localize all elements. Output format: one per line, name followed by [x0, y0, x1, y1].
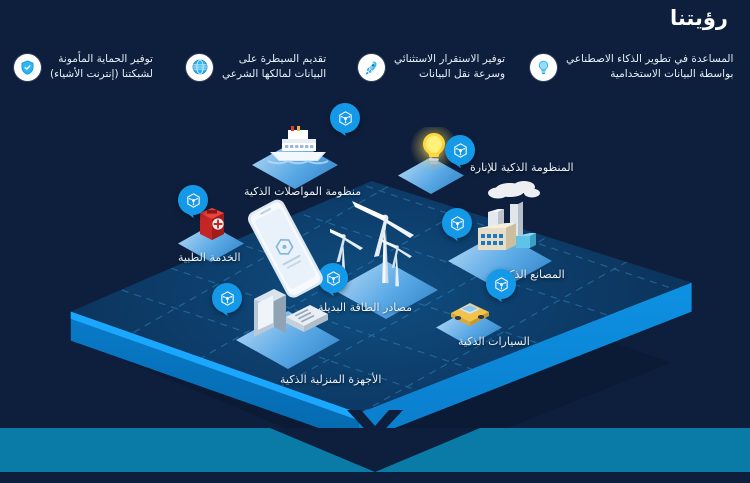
- feature-callout-text: المساعدة في تطوير الذكاء الاصطناعيبواسطة…: [566, 52, 733, 82]
- iot-hexagon-node-icon[interactable]: [178, 185, 208, 215]
- shield-check-icon: [14, 54, 41, 81]
- isometric-scene: المنظومة الذكية للإنارة: [0, 95, 750, 435]
- page-title: رؤيتنا: [670, 6, 728, 30]
- chevron-down-logo-icon: [343, 410, 407, 444]
- rocket-icon: [358, 54, 385, 81]
- smartphone-icon: [242, 191, 328, 309]
- iot-hexagon-node-icon[interactable]: [330, 103, 360, 133]
- iot-hexagon-node-icon[interactable]: [486, 269, 516, 299]
- node-label: الأجهزة المنزلية الذكية: [280, 373, 381, 386]
- feature-callout-list: توفير الحماية المأمونةلشبكتنا (إنترنت ال…: [0, 44, 750, 90]
- node-label: المنظومة الذكية للإنارة: [470, 161, 574, 174]
- ship-icon: [254, 117, 338, 169]
- node-label: السيارات الذكية: [458, 335, 530, 348]
- infographic-canvas: رؤيتنا توفير الحماية المأمونةلشبكتنا (إن…: [0, 0, 750, 472]
- feature-callout-ai[interactable]: المساعدة في تطوير الذكاء الاصطناعيبواسطة…: [530, 44, 745, 90]
- wind-turbine-icon: [330, 191, 446, 311]
- globe-network-icon: [186, 54, 213, 81]
- feature-callout-text: تقديم السيطرة علىالبيانات لمالكها الشرعي: [222, 52, 326, 82]
- feature-callout-shield[interactable]: توفير الحماية المأمونةلشبكتنا (إنترنت ال…: [14, 44, 186, 90]
- smoke-cloud: [488, 181, 540, 199]
- lightbulb-idea-icon: [530, 54, 557, 81]
- car-icon: [439, 291, 501, 331]
- iot-hexagon-node-icon[interactable]: [442, 208, 472, 238]
- feature-callout-text: توفير الحماية المأمونةلشبكتنا (إنترنت ال…: [50, 52, 153, 82]
- feature-callout-text: توفير الاستقرار الاستثنائيوسرعة نقل البي…: [394, 52, 505, 82]
- feature-callout-data-control[interactable]: تقديم السيطرة علىالبيانات لمالكها الشرعي: [186, 44, 358, 90]
- feature-callout-speed[interactable]: توفير الاستقرار الاستثنائيوسرعة نقل البي…: [358, 44, 530, 90]
- node-label: الخدمة الطبية: [178, 251, 241, 264]
- iot-hexagon-node-icon[interactable]: [212, 283, 242, 313]
